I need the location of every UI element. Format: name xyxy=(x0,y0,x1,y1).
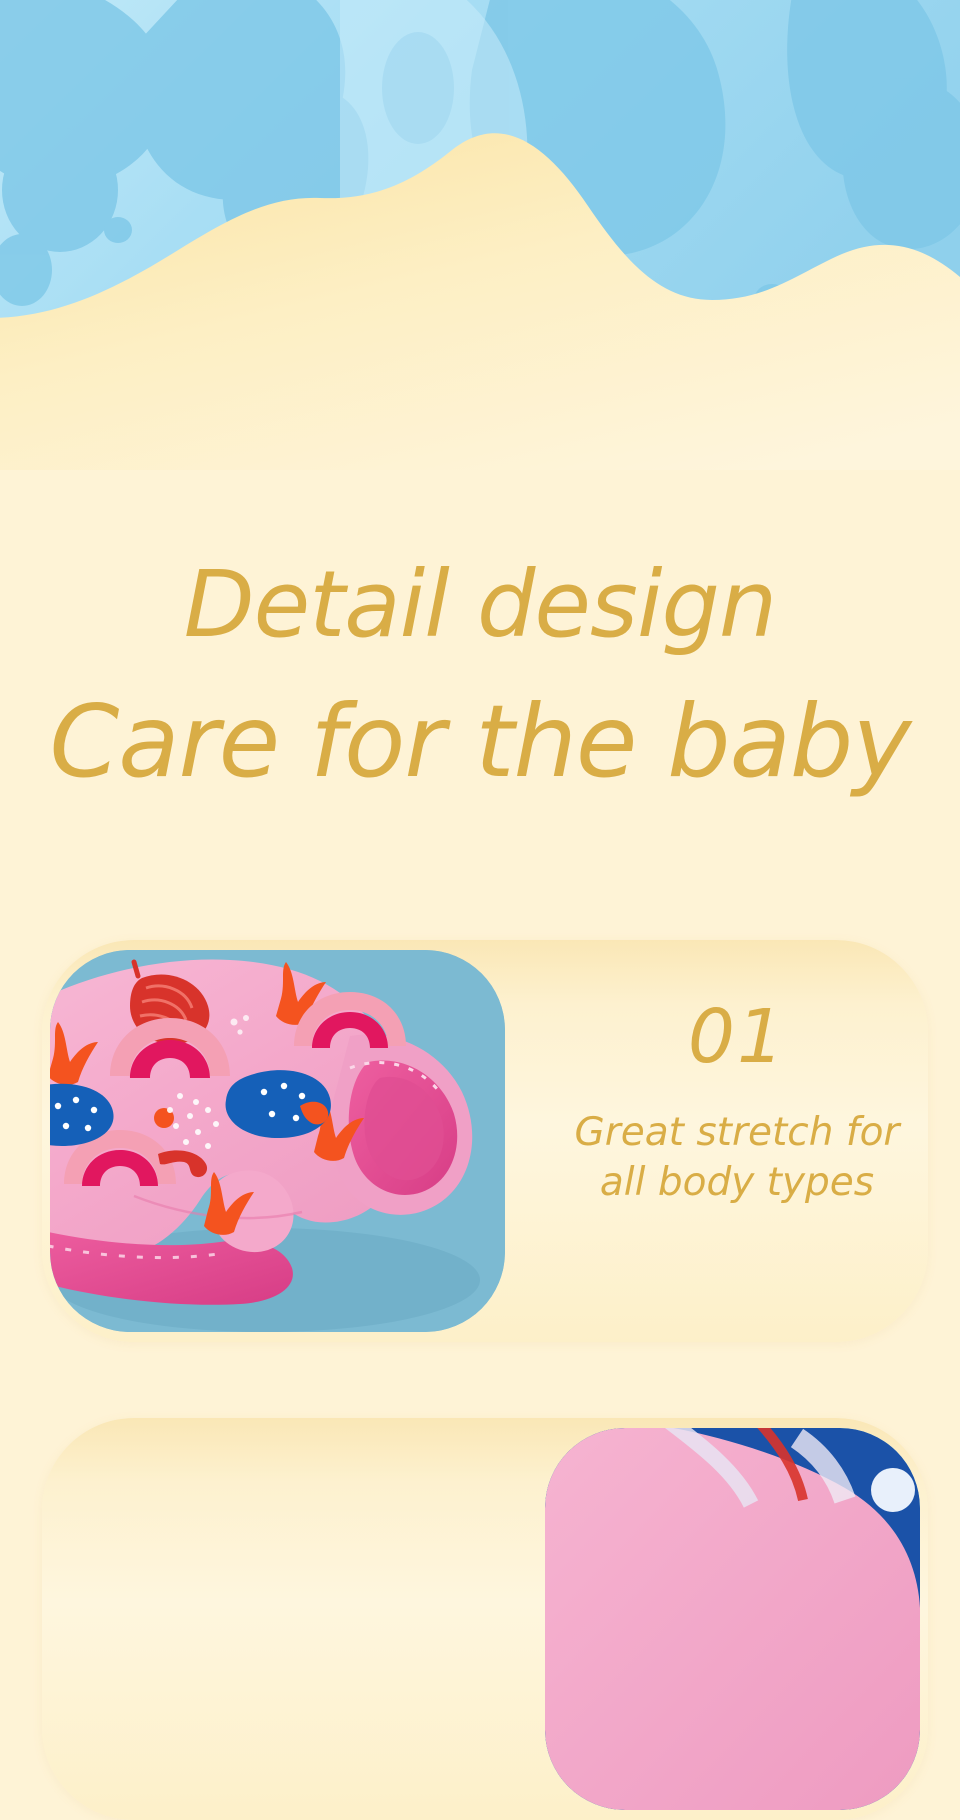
card-01-description-line-1: Great stretch for xyxy=(547,1108,927,1158)
page-title-line-2: Care for the baby xyxy=(0,671,960,813)
beach-banner xyxy=(0,0,960,470)
swimwear-leg-cuff-photo xyxy=(50,950,505,1332)
card-01-text: 01 Great stretch for all body types xyxy=(547,1000,927,1208)
card-01-number: 01 xyxy=(547,1000,927,1074)
card-01-description-line-2: all body types xyxy=(547,1158,927,1208)
feature-card-02 xyxy=(42,1418,928,1820)
page-title: Detail design Care for the baby xyxy=(0,540,960,813)
card-01-description: Great stretch for all body types xyxy=(547,1108,927,1208)
feature-card-01: 01 Great stretch for all body types xyxy=(42,940,928,1342)
page-title-line-1: Detail design xyxy=(0,540,960,671)
swimwear-detail-photo xyxy=(545,1428,920,1810)
